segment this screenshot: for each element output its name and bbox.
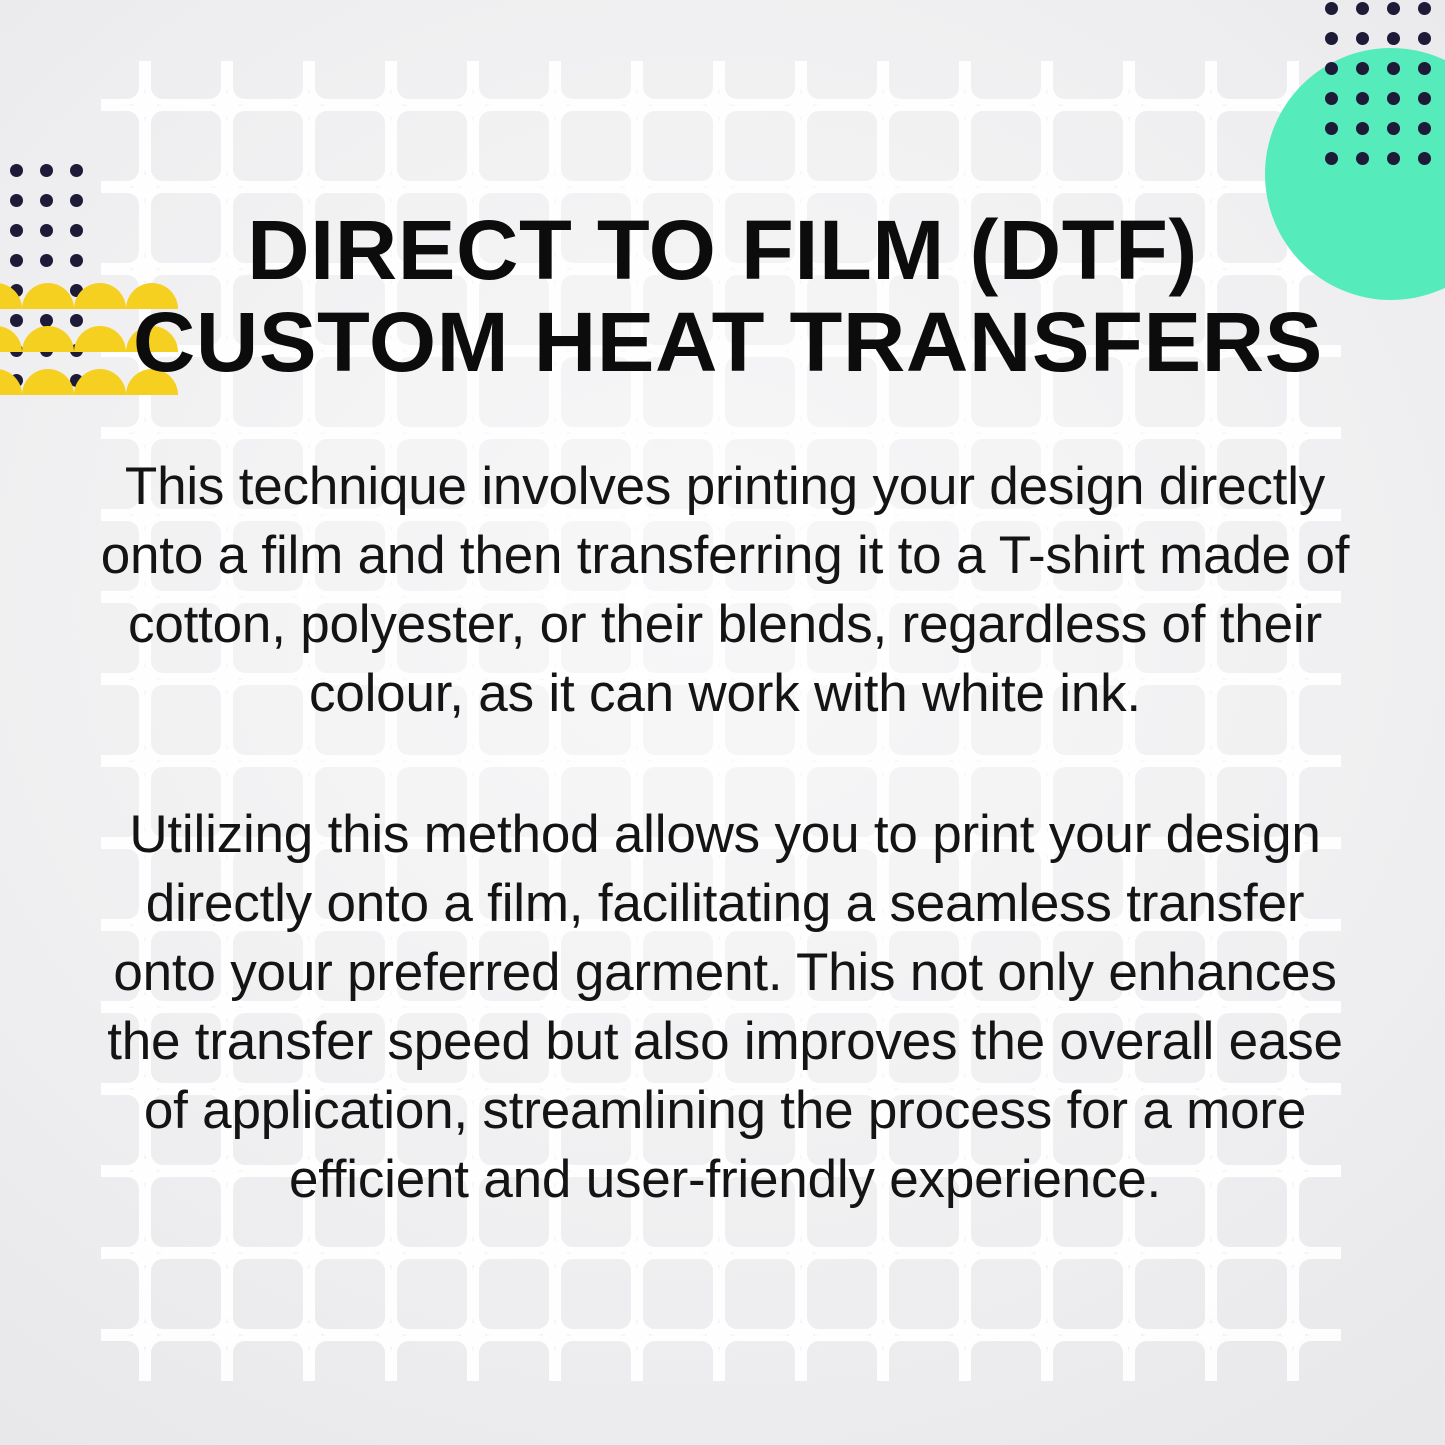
title-line-1: DIRECT TO FILM (DTF) (133, 204, 1312, 296)
page-title: DIRECT TO FILM (DTF) CUSTOM HEAT TRANSFE… (133, 204, 1312, 388)
body-copy: This technique involves printing your de… (95, 452, 1355, 1214)
paragraph-2: Utilizing this method allows you to prin… (95, 800, 1355, 1214)
paragraph-1: This technique involves printing your de… (95, 452, 1355, 728)
title-line-2: CUSTOM HEAT TRANSFERS (133, 296, 1312, 388)
poster-content: DIRECT TO FILM (DTF) CUSTOM HEAT TRANSFE… (0, 0, 1445, 1445)
poster-canvas: DIRECT TO FILM (DTF) CUSTOM HEAT TRANSFE… (0, 0, 1445, 1445)
